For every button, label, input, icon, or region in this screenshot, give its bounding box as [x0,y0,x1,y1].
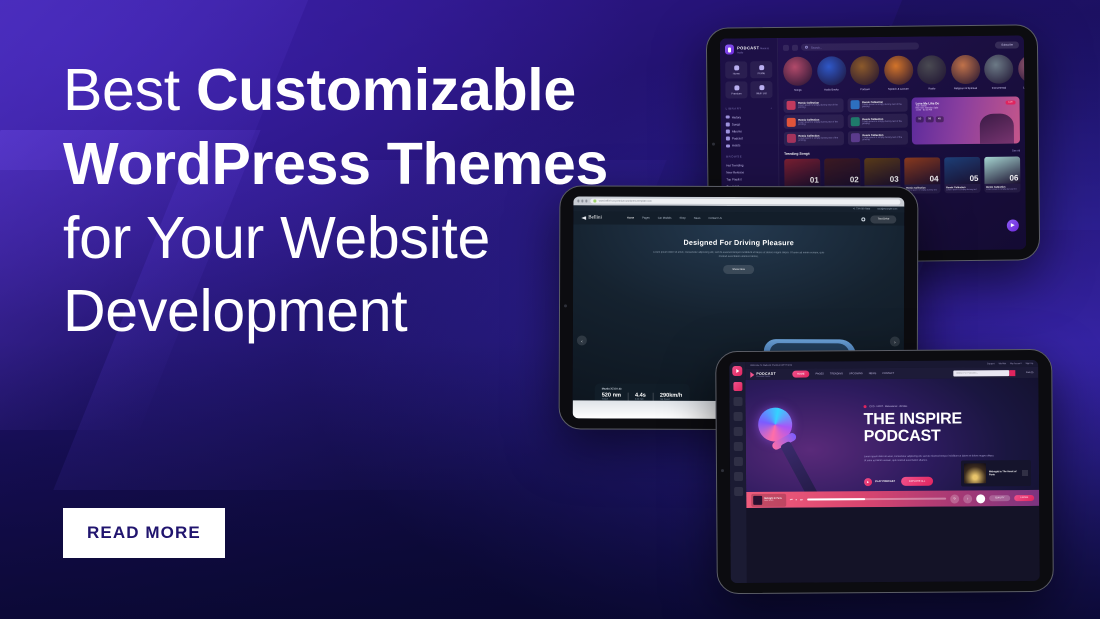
library-label: LIBRARY [726,106,742,110]
podcast-play-logo-icon [732,366,742,376]
trending-meta: Remix CollectionLorem ipsum is simply du… [944,183,981,192]
category-list[interactable]: SongsAudio BooksPodcastSpeech & LectureR… [783,54,1019,91]
live-badge: Live [1006,100,1016,104]
category-label: Songs [783,88,812,91]
rail-icon-music[interactable] [733,397,742,406]
library-item-artists[interactable]: Artists [726,142,773,150]
trending-artwork: 04 [904,157,941,184]
browse-label: BROWSE [726,154,742,158]
trending-card[interactable]: 05Remix CollectionLorem ipsum is simply … [944,156,981,192]
mini-list-item[interactable]: Remix CollectionLorem ipsum is simply du… [848,114,908,129]
player-progress-bar[interactable] [807,498,946,501]
mini-subtitle: Lorem ipsum is simply dummy text of the … [798,137,841,141]
category-songs[interactable]: Songs [783,57,812,92]
dashboard-quick-actions[interactable]: HomeProfilePremiumWish List [725,61,772,98]
countdown-segment: 08 [926,116,934,122]
prev-icon[interactable]: ⏮ [790,498,793,502]
now-playing-menu-icon[interactable] [1022,470,1028,476]
category-label: Live Recordings [1018,86,1026,89]
library-section-title: LIBRARY+ [726,106,773,110]
mini-list-item[interactable]: Remix CollectionLorem ipsum is simply du… [784,98,844,113]
audio-player[interactable]: Midnight In Paris John Smith ⏮ ⏸ ⏭ ↻ [746,490,1039,508]
podcast-hero-cta: PLAY PODCAST EXPLORE ALL [864,477,933,486]
mini-list-right[interactable]: Remix CollectionLorem ipsum is simply du… [848,97,908,145]
subscribe-button[interactable]: Subscribe [995,41,1019,48]
podcast-hero: ECO · HOST · Motivational · 28 Mins THE … [745,378,1039,508]
hero-title-line2: PODCAST [864,427,941,445]
mini-list-left[interactable]: Remix CollectionLorem ipsum is simply du… [784,98,844,146]
search-placeholder: Search... [811,45,822,49]
category-label: Audio Books [817,88,846,91]
rail-icon-settings[interactable] [734,472,743,481]
mini-text: Remix CollectionLorem ipsum is simply du… [862,134,905,141]
mini-list-item[interactable]: Remix CollectionLorem ipsum is simply du… [784,131,844,146]
dot-icon [864,405,867,408]
topbar-contact: +1 734 000 7860 [853,208,870,210]
explore-all-button[interactable]: EXPLORE ALL [901,477,933,486]
camera-dot-icon [721,469,724,472]
car-spec-values: 520 nmTorque4.4s0-60 mph290km/hTop Speed [602,393,683,401]
see-all-link[interactable]: See All [1012,150,1020,153]
category-label: Religious & Spiritual [951,86,980,89]
banner-stage: Best Customizable WordPress Themes for Y… [0,0,1100,619]
forward-arrow-icon[interactable] [792,44,798,50]
category-label: Radio [917,87,946,90]
trending-number: 05 [970,175,979,183]
category-label: Speech & Lecture [884,87,913,90]
mini-text: Remix CollectionLorem ipsum is simply du… [798,101,841,108]
read-more-button[interactable]: READ MORE [63,508,225,558]
play-fab-icon[interactable]: ▶ [1007,219,1019,231]
category-thumb [783,57,812,86]
trending-artwork: 03 [864,157,901,184]
trending-subtitle: Lorem ipsum is simply dummy text [986,188,1018,190]
rail-icon-home[interactable] [733,382,742,391]
volume-icon[interactable]: ♪ [963,494,972,503]
mini-thumb [786,117,795,126]
repeat-icon[interactable]: ↻ [950,494,959,503]
list-icon [726,115,730,119]
search-icon[interactable] [1009,370,1015,376]
cart-button[interactable]: Cart (0) [1026,371,1033,373]
countdown-segment: 50 [916,116,924,122]
mini-subtitle: Lorem ipsum is simply dummy text of the … [798,121,841,125]
mini-text: Remix CollectionLorem ipsum is simply du… [862,117,905,124]
play-podcast-label: PLAY PODCAST [875,480,895,483]
mini-thumb [850,100,859,109]
car-nav-news[interactable]: News [694,217,701,220]
podcast-body: Welcome To Webcast Premium WP Theme Supp… [745,360,1040,583]
listen-button[interactable]: LISTEN [1014,495,1034,501]
promo-artist-image [980,113,1014,143]
library-nav-list[interactable]: HistorySongsAlbumsPodcastArtists [726,113,773,149]
promo-time: 11:00 - 02:30 AM [916,108,1016,111]
tablet-screen-podcast: Welcome To Webcast Premium WP Theme Supp… [729,360,1040,583]
podcast-nav-news[interactable]: NEWS [869,372,877,375]
mini-subtitle: Lorem ipsum is simply dummy text of the … [798,104,841,108]
trending-header: Trending Songs See All [784,149,1020,155]
play-icon [864,478,872,486]
mini-thumb [786,101,795,110]
category-radio[interactable]: Radio [917,55,946,90]
car-nav-right: Test Drive [862,215,897,223]
topbar-link-wishlist[interactable]: Wishlist [999,363,1007,365]
category-label: Podcast [850,87,879,90]
topbar-link-support[interactable]: Support [987,363,995,365]
logo-title: PODCAST [737,45,759,50]
player-thumb [753,495,762,504]
mini-subtitle: Lorem ipsum is simply dummy text of the … [862,137,905,141]
mini-thumb [850,117,859,126]
car-spec: 520 nmTorque [602,393,621,401]
category-instrumental[interactable]: Instrumental [984,55,1013,90]
list-icon [726,123,730,127]
car-nav-shop[interactable]: Shop [679,217,685,220]
podcast-nav-home[interactable]: HOME [792,371,810,378]
podcast-nav-contact[interactable]: CONTACT [882,372,894,375]
mini-thumb [850,133,859,142]
trending-number: 03 [890,175,899,183]
rail-icon-mic[interactable] [733,412,742,421]
podcast-nav-pages[interactable]: PAGES [815,372,823,375]
promo-card[interactable]: Live Love Me Like Do John Smith Mon Dec … [912,96,1020,144]
dashboard-row-two: Remix CollectionLorem ipsum is simply du… [784,96,1020,145]
category-thumb [1018,54,1027,83]
volume-knob[interactable] [976,494,985,503]
podcast-logo: PODCAST Premium Theme [750,371,776,377]
rail-icon-headphones[interactable] [733,427,742,436]
category-live-recordings[interactable]: Live Recordings [1018,54,1027,89]
now-playing-thumb [964,463,986,483]
player-track: Midnight In Paris John Smith [751,493,786,506]
car-hero-text: Lorem ipsum dolor sit amet, consectetur … [651,251,827,260]
mini-text: Remix CollectionLorem ipsum is simply du… [798,118,841,125]
dashboard-topbar: Search... Subscribe [783,41,1019,50]
quick-action-premium[interactable]: Premium [725,81,747,98]
mini-subtitle: Lorem ipsum is simply dummy text of the … [862,120,905,124]
category-thumb [850,56,879,85]
trending-number: 06 [1009,174,1018,182]
trending-number: 04 [930,175,939,183]
show-now-button[interactable]: Show Now [723,264,753,273]
user-icon [759,65,764,70]
trending-artwork: 05 [944,156,981,183]
category-speech-lecture[interactable]: Speech & Lecture [884,56,913,91]
camera-dot-icon [712,143,715,146]
mini-list-item[interactable]: Remix CollectionLorem ipsum is simply du… [848,130,908,145]
mini-text: Remix CollectionLorem ipsum is simply du… [862,101,905,108]
list-icon [726,130,730,134]
mini-thumb [786,134,795,143]
play-podcast-button[interactable]: PLAY PODCAST [864,477,895,485]
trending-meta: Remix CollectionLorem ipsum is simply du… [984,183,1021,192]
category-audio-books[interactable]: Audio Books [817,56,846,91]
trending-number: 02 [850,176,859,184]
quick-action-home[interactable]: Home [725,61,747,78]
category-thumb [951,55,980,84]
trending-subtitle: Lorem ipsum is simply dummy text [946,189,978,191]
search-icon[interactable] [862,217,866,221]
rail-icon-clock[interactable] [733,457,742,466]
car-spec: 290km/hTop Speed [653,393,682,401]
topbar-contact: mail@example.com [877,208,897,210]
crown-icon [734,85,739,90]
podcast-nav-list[interactable]: HOMEPAGESTRENDINGUPCOMINGNEWSCONTACT [792,370,894,378]
search-input[interactable]: Search... [801,43,919,51]
trending-card[interactable]: 06Remix CollectionLorem ipsum is simply … [984,156,1021,192]
trending-subtitle: Lorem ipsum is simply dummy text [906,189,938,191]
trending-artwork: 02 [824,158,861,185]
player-controls[interactable]: ⏮ ⏸ ⏭ [790,498,803,502]
podcast-logo-subtitle: Premium Theme [756,375,776,377]
category-label: Instrumental [984,86,1013,89]
search-icon [805,46,808,49]
topbar-message: Welcome To Webcast Premium WP Theme [750,364,792,366]
rail-icon-grid[interactable] [734,487,743,496]
podcast-hero-title: THE INSPIRE PODCAST [864,411,962,445]
podcast-mic-icon [725,44,734,54]
topbar-link-sign-up[interactable]: Sign Up [1025,362,1033,364]
category-religious-spiritual[interactable]: Religious & Spiritual [951,55,980,90]
mini-subtitle: Lorem ipsum is simply dummy text of the … [862,104,905,108]
test-drive-button[interactable]: Test Drive [871,215,897,223]
released-section: RELEASED THIS WEEK Latest Episodes ‹ [747,581,1040,583]
tablet-device-podcast: Welcome To Webcast Premium WP Theme Supp… [715,349,1054,594]
headline-block: Best Customizable WordPress Themes for Y… [63,54,663,349]
category-podcast[interactable]: Podcast [850,56,879,91]
back-arrow-icon[interactable] [783,44,789,50]
trending-artwork: 06 [984,156,1021,183]
hero-tags-text: ECO · HOST · Motivational · 28 Mins [870,405,908,407]
podcast-nav-upcoming[interactable]: UPCOMING [849,372,863,375]
car-spec: 4.4s0-60 mph [628,393,646,401]
headline-light-run: Best [63,57,196,123]
topbar-links[interactable]: SupportWishlistMy AccountSign Up [987,362,1033,364]
category-thumb [984,55,1013,84]
hero-tags: ECO · HOST · Motivational · 28 Mins [864,405,908,408]
mini-text: Remix CollectionLorem ipsum is simply du… [798,134,841,141]
page-title: Best Customizable WordPress Themes for Y… [63,54,663,349]
headline-light-run: for Your Website Development [63,205,490,345]
podcast-nav-trending[interactable]: TRENDING [830,372,843,375]
category-thumb [884,56,913,85]
browse-section-title: BROWSE [726,154,773,158]
hero-title-line1: THE INSPIRE [864,410,962,428]
podcast-search[interactable] [953,370,1015,376]
mini-list-item[interactable]: Remix CollectionLorem ipsum is simply du… [848,97,908,112]
mini-list-item[interactable]: Remix CollectionLorem ipsum is simply du… [784,114,844,129]
home-icon [734,65,739,70]
heart-icon [759,85,764,90]
category-thumb [817,56,846,85]
next-icon[interactable]: ⏭ [800,498,803,502]
car-nav-contact-us[interactable]: Contact Us [708,217,721,220]
trending-title: Trending Songs [784,151,810,155]
quick-action-profile[interactable]: Profile [750,61,772,78]
trending-card[interactable]: 04Remix CollectionLorem ipsum is simply … [904,157,941,193]
list-icon [726,144,730,148]
dashboard-logo: PODCAST Music & Audio [725,44,772,54]
podcast-side-rail[interactable] [729,362,747,583]
quick-action-wish-list[interactable]: Wish List [750,81,772,98]
play-pause-icon[interactable]: ⏸ [796,498,798,502]
play-mark-icon [750,371,754,377]
search-input[interactable] [953,370,1009,376]
podcast-logo-title: PODCAST [756,371,776,375]
now-playing-title: Midnight In The Heart of Paris [989,470,1019,476]
now-playing-card[interactable]: Midnight In The Heart of Paris [961,460,1031,486]
rail-icon-heart[interactable] [733,442,742,451]
player-track-artist: John Smith [764,500,782,502]
podcast-landing-site: Welcome To Webcast Premium WP Theme Supp… [729,360,1040,583]
list-icon [726,137,730,141]
category-thumb [917,55,946,84]
car-model-name: Mazda XZ EV 23 [602,388,683,391]
topbar-link-my-account[interactable]: My Account [1010,363,1021,365]
quality-button[interactable]: QUALITY [989,495,1010,501]
trending-number: 01 [810,176,819,184]
trending-artwork: 01 [784,158,821,185]
countdown-segment: 45 [935,116,943,122]
